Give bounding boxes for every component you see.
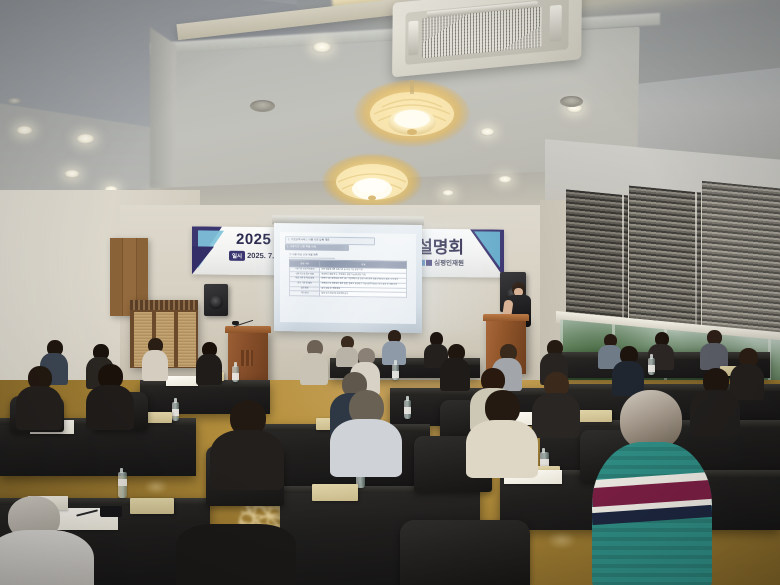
person-torso bbox=[210, 430, 284, 490]
audience-person bbox=[142, 338, 168, 380]
podium-left-detail bbox=[241, 350, 253, 366]
person-torso bbox=[196, 354, 222, 385]
audience-person bbox=[532, 372, 580, 434]
person-torso bbox=[592, 442, 712, 585]
banner-triangle-icon bbox=[192, 246, 214, 274]
audience-person bbox=[16, 366, 62, 426]
person-torso bbox=[440, 358, 470, 391]
slide-table: 항목 구분 내 용 사용기준 신청 자격요건관련 법령에 따른 등록기관 및 지… bbox=[289, 259, 407, 298]
name-card bbox=[130, 498, 174, 514]
downlight-icon bbox=[64, 170, 80, 178]
person-torso bbox=[532, 393, 580, 438]
presentation-slide: 1. 무료공익서비스 사용 기준 등록 개요 1. 서류기준 신청 적용 사례 … bbox=[280, 232, 416, 324]
conference-hall-photo: 2025 일시2025. 7. 22. 설명회 심평인재원 1. 무료공익서비스… bbox=[0, 0, 780, 585]
person-torso bbox=[330, 419, 402, 477]
slide-subsection-title: ① 사용 대상 신청 적용 범위 bbox=[289, 252, 335, 259]
audience-person bbox=[196, 342, 222, 384]
person-torso bbox=[466, 420, 538, 478]
person-head bbox=[620, 390, 682, 450]
pa-speaker-left bbox=[204, 284, 228, 316]
speaker-cone-icon bbox=[209, 295, 223, 309]
name-card bbox=[312, 484, 358, 501]
downlight-icon bbox=[76, 134, 95, 144]
downlight-icon bbox=[442, 190, 454, 196]
podium-right-top bbox=[483, 314, 529, 321]
water-bottle bbox=[118, 472, 127, 498]
banner-year: 2025 bbox=[236, 231, 271, 248]
audience-person bbox=[612, 346, 644, 394]
ac-vane bbox=[408, 21, 418, 56]
downlight-icon bbox=[312, 42, 332, 53]
banner-date-badge: 일시 bbox=[229, 251, 245, 261]
person-torso bbox=[16, 386, 62, 430]
banner-organization-text: 심평인재원 bbox=[434, 260, 464, 267]
banner-triangle-icon bbox=[474, 231, 500, 267]
person-torso bbox=[176, 524, 296, 585]
person-torso bbox=[0, 530, 94, 585]
audience-person bbox=[440, 344, 470, 390]
slide-section-title: 1. 서류기준 신청 적용 사례 bbox=[285, 244, 349, 251]
water-bottle bbox=[172, 402, 179, 421]
water-bottle bbox=[648, 358, 655, 375]
table-row: 기타 문의담당 부서 전화 및 전자우편 문의 bbox=[290, 291, 407, 298]
banner-organization-line: 심평인재원 bbox=[418, 257, 464, 267]
handout-paper bbox=[166, 376, 198, 386]
foreground-person bbox=[592, 390, 712, 585]
downlight-icon bbox=[480, 128, 495, 136]
audience-person bbox=[382, 330, 406, 364]
person-torso bbox=[300, 353, 328, 385]
slide-table-body: 사용기준 신청 자격요건관련 법령에 따른 등록기관 및 지정 기관 운영 기관… bbox=[290, 267, 407, 298]
downlight-icon bbox=[498, 176, 512, 183]
microphone-icon bbox=[234, 312, 254, 332]
water-bottle bbox=[404, 400, 411, 419]
audience-person bbox=[86, 364, 134, 426]
chandelier-icon bbox=[352, 74, 472, 154]
audience-person bbox=[300, 340, 328, 384]
folding-screen-panel bbox=[177, 311, 197, 368]
banner-title: 설명회 bbox=[417, 233, 464, 258]
water-bottle bbox=[392, 364, 399, 380]
foreground-person bbox=[176, 524, 296, 585]
slide-cell-value: 담당 부서 전화 및 전자우편 문의 bbox=[320, 291, 407, 297]
ceiling-speaker-icon bbox=[250, 100, 275, 112]
audience-person bbox=[466, 390, 538, 476]
audience-person bbox=[700, 330, 728, 368]
audience-person bbox=[210, 400, 284, 486]
projection-screen: 1. 무료공익서비스 사용 기준 등록 개요 1. 서류기준 신청 적용 사례 … bbox=[274, 223, 422, 333]
ac-vane bbox=[550, 5, 562, 42]
microphone-head bbox=[232, 321, 239, 325]
slide-cell-key: 기타 문의 bbox=[290, 291, 320, 296]
person-torso bbox=[86, 385, 134, 430]
downlight-icon bbox=[16, 126, 33, 135]
person-torso bbox=[142, 350, 168, 381]
chair-back bbox=[400, 520, 530, 585]
foreground-person bbox=[0, 496, 94, 585]
audience-person bbox=[330, 390, 402, 474]
smartphone[interactable] bbox=[100, 506, 122, 517]
folding-screen-crown bbox=[130, 300, 198, 310]
ceiling-speaker-icon bbox=[560, 96, 583, 107]
downlight-icon bbox=[8, 98, 21, 104]
water-bottle bbox=[232, 366, 239, 382]
